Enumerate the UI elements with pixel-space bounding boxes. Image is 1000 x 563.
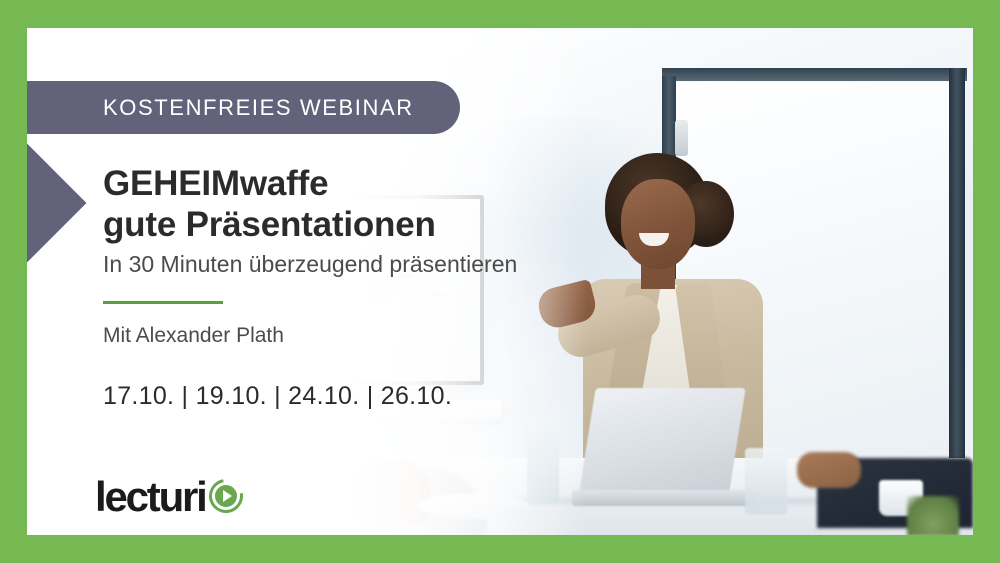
- play-circle-icon: [209, 479, 243, 513]
- subheadline: In 30 Minuten überzeugend präsentieren: [103, 249, 573, 279]
- logo-wordmark: lecturi: [95, 476, 206, 518]
- headline: GEHEIMwaffe gute Präsentationen: [103, 28, 573, 245]
- laptop-base: [572, 490, 758, 506]
- headline-line-1: GEHEIMwaffe: [103, 164, 328, 203]
- logo-play-triangle: [223, 490, 232, 502]
- speaker-line: Mit Alexander Plath: [103, 324, 573, 348]
- laptop-screen: [578, 388, 745, 498]
- window-handle: [675, 120, 688, 156]
- attendee-hand: [797, 452, 861, 488]
- window-mullion: [949, 68, 965, 468]
- green-divider: [103, 301, 223, 304]
- window-mullion: [662, 68, 967, 81]
- table-plant: [907, 496, 959, 535]
- presenter-face: [621, 179, 695, 269]
- lecturio-logo: lecturi: [95, 476, 243, 518]
- water-glass-secondary: [745, 448, 787, 514]
- webinar-poster: PRESENTATION ANALYSIS: [0, 0, 1000, 563]
- headline-line-2: gute Präsentationen: [103, 205, 436, 244]
- dates-line: 17.10. | 19.10. | 24.10. | 26.10.: [103, 382, 573, 411]
- poster-canvas: PRESENTATION ANALYSIS: [27, 28, 973, 535]
- copy-block: GEHEIMwaffe gute Präsentationen In 30 Mi…: [103, 28, 573, 411]
